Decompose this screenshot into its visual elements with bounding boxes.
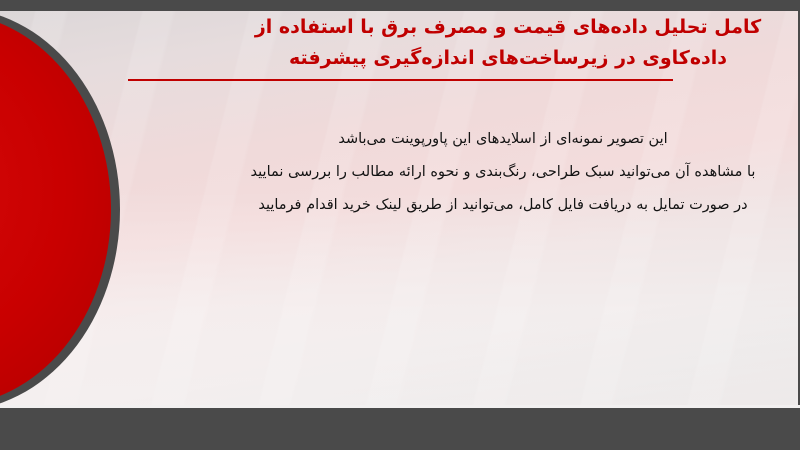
slide-title-line-1: کامل تحلیل داده‌های قیمت و مصرف برق با ا… <box>218 12 798 43</box>
title-underline <box>128 79 673 81</box>
body-line-2: با مشاهده آن می‌توانید سبک طراحی، رنگ‌بن… <box>208 156 798 189</box>
frame-top-bar <box>0 0 800 11</box>
slide-content: کامل تحلیل داده‌های قیمت و مصرف برق با ا… <box>0 11 798 408</box>
body-line-1: این تصویر نمونه‌ای از اسلایدهای این پاور… <box>208 123 798 156</box>
slide-title: کامل تحلیل داده‌های قیمت و مصرف برق با ا… <box>98 12 798 74</box>
slide-body: این تصویر نمونه‌ای از اسلایدهای این پاور… <box>98 123 798 222</box>
slide-title-line-2: داده‌کاوی در زیرساخت‌های اندازه‌گیری پیش… <box>218 43 798 74</box>
body-line-3: در صورت تمایل به دریافت فایل کامل، می‌تو… <box>208 189 798 222</box>
presentation-slide: کامل تحلیل داده‌های قیمت و مصرف برق با ا… <box>0 0 800 450</box>
frame-bottom-bar <box>0 408 800 450</box>
